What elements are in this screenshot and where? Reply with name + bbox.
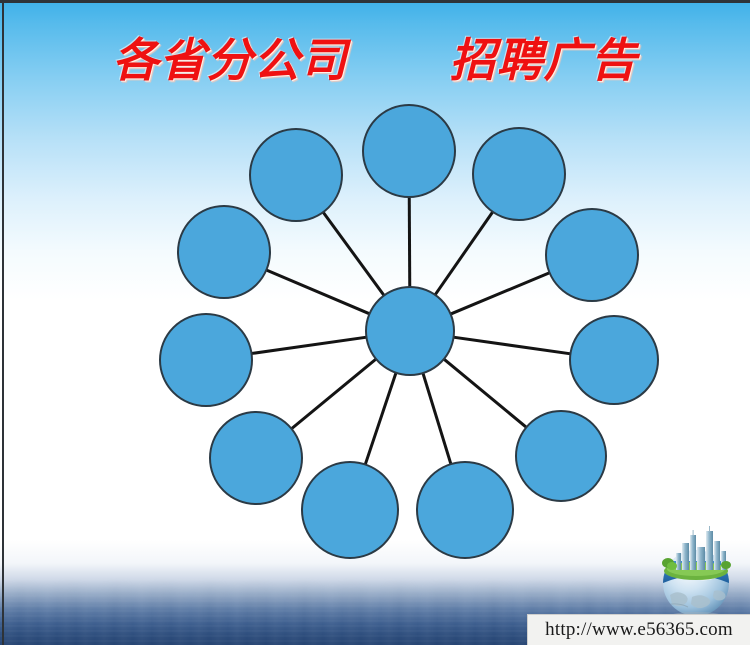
spoke-line-10 [265, 270, 370, 315]
branch-node-6[interactable] [417, 462, 513, 558]
branch-node-10[interactable] [178, 206, 270, 298]
branch-node-9[interactable] [160, 314, 252, 406]
branch-node-3[interactable] [546, 209, 638, 301]
branch-node-4[interactable] [570, 316, 658, 404]
spoke-line-1 [409, 196, 410, 288]
spoke-line-6 [423, 372, 452, 465]
spoke-line-7 [365, 372, 396, 466]
hub-node[interactable] [366, 287, 454, 375]
branch-node-2[interactable] [473, 128, 565, 220]
spoke-line-3 [450, 272, 551, 314]
branch-node-7[interactable] [302, 462, 398, 558]
branch-node-5[interactable] [516, 411, 606, 501]
branch-node-8[interactable] [210, 412, 302, 504]
spoke-line-4 [453, 337, 572, 354]
globe-city-logo [648, 525, 744, 617]
slide-canvas: 各省分公司 招聘广告 [0, 0, 750, 645]
branch-node-1[interactable] [363, 105, 455, 197]
node-circles-group [160, 105, 658, 558]
spoke-line-2 [435, 211, 494, 296]
spoke-line-9 [251, 337, 368, 354]
branch-node-11[interactable] [250, 129, 342, 221]
city-skyline [676, 526, 726, 570]
hub-and-spoke-diagram [0, 0, 750, 645]
watermark-url: http://www.e56365.com [527, 614, 750, 645]
spoke-line-8 [291, 358, 377, 429]
spoke-line-5 [443, 358, 527, 428]
spoke-line-11 [323, 211, 385, 296]
